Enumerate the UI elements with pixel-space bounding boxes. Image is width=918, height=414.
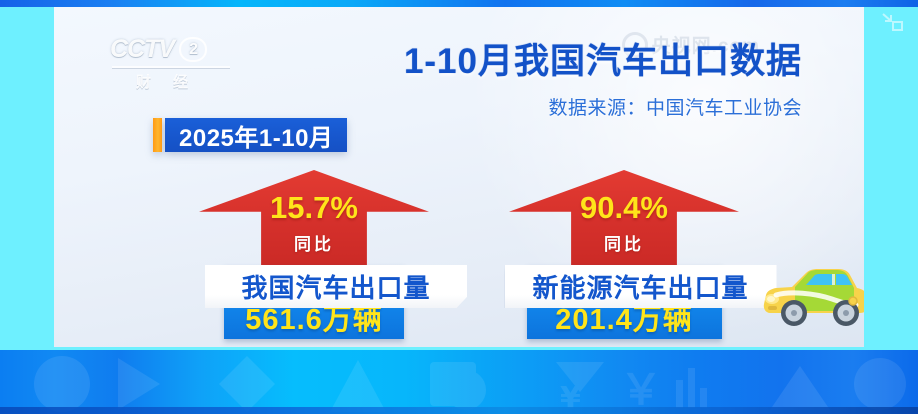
- stat-label-card-b: 新能源汽车出口量: [505, 265, 777, 308]
- electric-car-charging-icon: [754, 251, 864, 331]
- badge-label: 2025年1-10月: [179, 118, 333, 153]
- stat-label-card-a: 我国汽车出口量: [205, 265, 467, 308]
- cctv-wordmark: CCTV: [110, 35, 174, 64]
- page-title: 1-10月我国汽车出口数据: [404, 33, 802, 84]
- growth-caption-a: 同比: [294, 230, 334, 255]
- value-box-b: 201.4万辆 新能源汽车出口量: [527, 265, 722, 339]
- period-badge: 2025年1-10月: [153, 118, 347, 152]
- headline-block: 1-10月我国汽车出口数据 数据来源：中国汽车工业协会: [404, 33, 802, 120]
- growth-percent-b: 90.4%: [580, 192, 668, 223]
- cctv-channel-number: 2: [179, 37, 207, 62]
- cctv-sub-char-1: 财: [136, 71, 151, 92]
- stat-label-a: 我国汽车出口量: [241, 268, 430, 305]
- cctv-logo-subtitle: 财 经: [110, 71, 232, 92]
- badge-accent-bar: [153, 118, 162, 152]
- cctv-sub-char-2: 经: [173, 71, 188, 92]
- cctv-logo: CCTV 2 财 经: [110, 35, 232, 92]
- data-source-subtitle: 数据来源：中国汽车工业协会: [404, 93, 802, 120]
- stat-block-total-export: 15.7% 同比 561.6万辆 我国汽车出口量: [199, 170, 429, 339]
- growth-caption-b: 同比: [604, 230, 644, 255]
- video-frame: 央视网.com CCTV 2 财 经 1-10月我国汽车出口数据 数据来源：中国…: [0, 0, 918, 414]
- top-accent-strip: [0, 0, 918, 7]
- growth-percent-a: 15.7%: [270, 192, 358, 223]
- stat-label-b: 新能源汽车出口量: [532, 268, 748, 305]
- growth-arrow-wrapper-b: 90.4% 同比: [509, 170, 739, 265]
- cctv-logo-underline: [112, 66, 230, 68]
- cctv-logo-row: CCTV 2: [110, 35, 232, 64]
- exit-fullscreen-icon[interactable]: [880, 11, 906, 33]
- growth-text-b: 90.4% 同比: [509, 170, 739, 265]
- band-bottom-shadow: [0, 407, 918, 414]
- growth-arrow-wrapper-a: 15.7% 同比: [199, 170, 429, 265]
- stat-block-nev-export: 90.4% 同比 201.4万辆 新能源汽车出口量: [509, 170, 739, 339]
- growth-text-a: 15.7% 同比: [199, 170, 429, 265]
- value-box-a: 561.6万辆 我国汽车出口量: [224, 265, 404, 339]
- bottom-accent-band: ¥ ￥: [0, 350, 918, 414]
- infographic-slide: 央视网.com CCTV 2 财 经 1-10月我国汽车出口数据 数据来源：中国…: [54, 7, 864, 347]
- badge-box: 2025年1-10月: [165, 118, 347, 152]
